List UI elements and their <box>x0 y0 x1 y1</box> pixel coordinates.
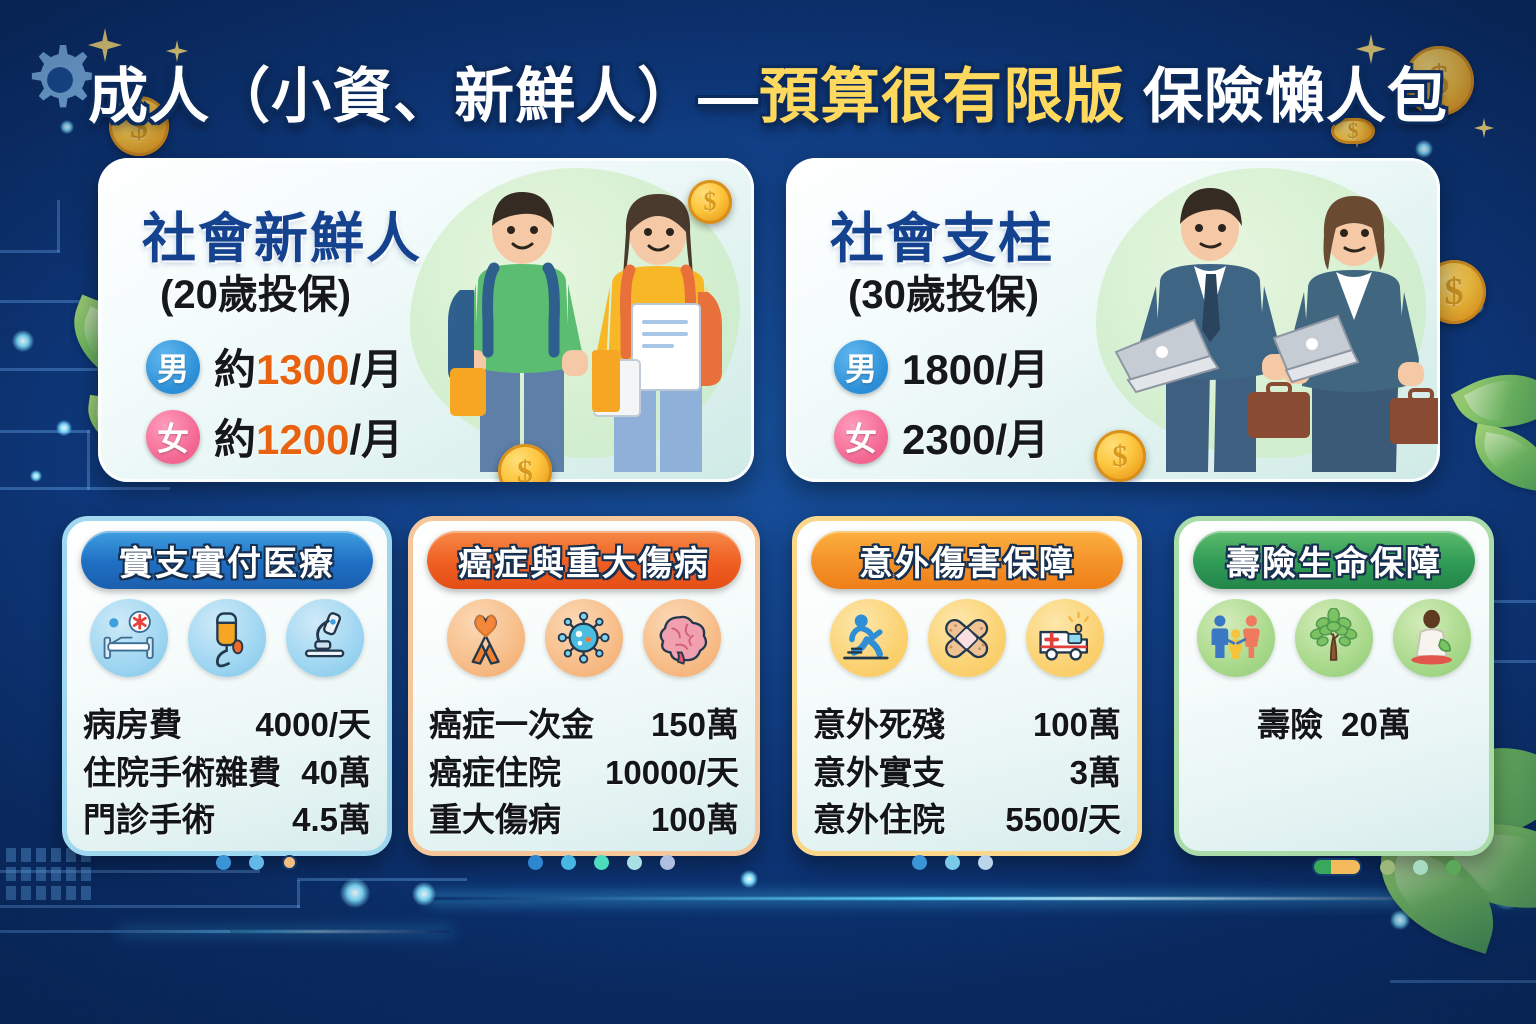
card-header-label: 意外傷害保障 <box>859 536 1075 585</box>
benefit-value: 3萬 <box>1070 749 1121 797</box>
benefit-row: 壽險 20萬 <box>1195 701 1473 749</box>
pip-dot <box>1380 860 1395 875</box>
benefit-card-cancer[interactable]: 癌症與重大傷病 <box>408 516 760 856</box>
benefit-card-life[interactable]: 壽險生命保障 <box>1174 516 1494 856</box>
benefit-card-medical[interactable]: 實支實付医療 <box>62 516 392 856</box>
professional-pair-illustration <box>1098 170 1438 472</box>
title-part1: 成人（小資、新鮮人）— <box>88 63 759 130</box>
awareness-ribbon-icon <box>447 599 525 677</box>
card-header-medical: 實支實付医療 <box>81 531 373 589</box>
premium-unit: /月 <box>995 416 1049 463</box>
persona-subtitle: (20歲投保) <box>160 262 351 320</box>
pip-dot <box>528 855 543 870</box>
card-header-label: 癌症與重大傷病 <box>458 536 710 585</box>
virus-cell-icon <box>545 599 623 677</box>
coin-icon: $ <box>1094 430 1146 482</box>
benefit-label: 意外住院 <box>813 796 945 844</box>
benefit-row: 住院手術雜費 40萬 <box>83 749 371 797</box>
benefit-value: 4000/天 <box>255 701 371 749</box>
benefit-row: 意外實支 3萬 <box>813 749 1121 797</box>
progress-pill <box>1312 858 1362 876</box>
icon-row <box>413 599 755 677</box>
persona-row-male: 男 約1300/月 <box>146 336 403 397</box>
benefit-label: 重大傷病 <box>429 796 561 844</box>
benefit-row: 重大傷病 100萬 <box>429 796 739 844</box>
persona-row-male: 男 1800/月 <box>834 336 1049 397</box>
gender-badge-male: 男 <box>834 340 888 394</box>
persona-subtitle: (30歲投保) <box>848 262 1039 320</box>
premium-amount-male: 1800/月 <box>902 336 1049 397</box>
pip-dot <box>1413 860 1428 875</box>
premium-number: 1200 <box>256 416 349 463</box>
pip-dot <box>627 855 642 870</box>
premium-prefix: 約 <box>214 416 256 463</box>
pip-dot <box>249 855 264 870</box>
benefit-row: 癌症住院 10000/天 <box>429 749 739 797</box>
benefit-label: 門診手術 <box>83 796 215 844</box>
pip-dot <box>660 855 675 870</box>
guardian-icon <box>1393 599 1471 677</box>
card-header-cancer: 癌症與重大傷病 <box>427 531 741 589</box>
pip-group-right <box>912 855 993 870</box>
pip-dot <box>216 855 231 870</box>
persona-card-breadwinner[interactable]: 社會支柱 (30歲投保) 男 1800/月 女 2300/月 $ <box>786 158 1440 482</box>
persona-row-female: 女 約1200/月 <box>146 406 403 467</box>
premium-unit: /月 <box>995 346 1049 393</box>
card-header-label: 實支實付医療 <box>119 536 335 585</box>
gender-badge-female: 女 <box>834 410 888 464</box>
benefit-value: 100萬 <box>1033 701 1121 749</box>
benefit-value: 4.5萬 <box>292 796 371 844</box>
pip-group-left <box>216 855 297 870</box>
pip-group-far-right <box>1312 858 1461 876</box>
title-part2: 保險懶人包 <box>1125 63 1448 130</box>
benefit-value: 5500/天 <box>1005 796 1121 844</box>
benefit-rows: 癌症一次金 150萬 癌症住院 10000/天 重大傷病 100萬 <box>413 701 755 844</box>
benefit-label: 癌症一次金 <box>429 701 594 749</box>
card-header-label: 壽險生命保障 <box>1226 536 1442 585</box>
page-title: 成人（小資、新鮮人）—預算很有限版 保險懶人包 <box>0 48 1536 135</box>
benefit-label: 病房費 <box>83 701 182 749</box>
card-header-life: 壽險生命保障 <box>1193 531 1475 589</box>
benefit-value: 40萬 <box>301 749 371 797</box>
benefit-row: 意外死殘 100萬 <box>813 701 1121 749</box>
premium-amount-female: 2300/月 <box>902 406 1049 467</box>
pip-dot <box>594 855 609 870</box>
background: $ $ $ $ $ <box>0 0 1536 1024</box>
benefit-label: 意外實支 <box>813 749 945 797</box>
benefit-row: 癌症一次金 150萬 <box>429 701 739 749</box>
premium-amount-female: 約1200/月 <box>214 406 403 467</box>
premium-number: 2300 <box>902 416 995 463</box>
benefit-value: 10000/天 <box>605 749 739 797</box>
benefit-row: 意外住院 5500/天 <box>813 796 1121 844</box>
coin-icon: $ <box>688 180 732 224</box>
pip-group-center <box>528 855 675 870</box>
benefit-label: 住院手術雜費 <box>83 749 281 797</box>
benefit-rows: 壽險 20萬 <box>1179 701 1489 749</box>
tree-icon <box>1295 599 1373 677</box>
benefit-card-accident[interactable]: 意外傷害保障 <box>792 516 1142 856</box>
icon-row <box>1179 599 1489 677</box>
benefit-row: 門診手術 4.5萬 <box>83 796 371 844</box>
microscope-icon <box>286 599 364 677</box>
card-header-accident: 意外傷害保障 <box>811 531 1123 589</box>
icon-row <box>67 599 387 677</box>
benefit-label: 癌症住院 <box>429 749 561 797</box>
gender-badge-male: 男 <box>146 340 200 394</box>
persona-row-female: 女 2300/月 <box>834 406 1049 467</box>
benefit-rows: 病房費 4000/天 住院手術雜費 40萬 門診手術 4.5萬 <box>67 701 387 844</box>
pip-dot <box>1446 860 1461 875</box>
slip-fall-icon <box>830 599 908 677</box>
gender-badge-female: 女 <box>146 410 200 464</box>
benefit-value: 150萬 <box>651 701 739 749</box>
premium-number: 1800 <box>902 346 995 393</box>
pip-dot <box>978 855 993 870</box>
pip-dot <box>912 855 927 870</box>
iv-drip-icon <box>188 599 266 677</box>
background-vignette <box>0 0 1536 1024</box>
premium-amount-male: 約1300/月 <box>214 336 403 397</box>
premium-prefix: 約 <box>214 346 256 393</box>
family-icon <box>1197 599 1275 677</box>
hospital-bed-icon <box>90 599 168 677</box>
pip-dot <box>561 855 576 870</box>
pip-dot <box>282 855 297 870</box>
benefit-label: 意外死殘 <box>813 701 945 749</box>
pip-dot <box>945 855 960 870</box>
icon-row <box>797 599 1137 677</box>
benefit-value: 100萬 <box>651 796 739 844</box>
premium-number: 1300 <box>256 346 349 393</box>
premium-unit: /月 <box>349 346 403 393</box>
persona-card-fresh-graduate[interactable]: 社會新鮮人 (20歲投保) 男 約1300/月 女 約1200/月 $ $ <box>98 158 754 482</box>
brain-icon <box>643 599 721 677</box>
premium-unit: /月 <box>349 416 403 463</box>
bandage-icon <box>928 599 1006 677</box>
benefit-rows: 意外死殘 100萬 意外實支 3萬 意外住院 5500/天 <box>797 701 1137 844</box>
title-highlight: 預算很有限版 <box>759 63 1125 130</box>
ambulance-icon <box>1026 599 1104 677</box>
benefit-label: 壽險 <box>1257 701 1323 749</box>
benefit-row: 病房費 4000/天 <box>83 701 371 749</box>
benefit-value: 20萬 <box>1341 701 1411 749</box>
